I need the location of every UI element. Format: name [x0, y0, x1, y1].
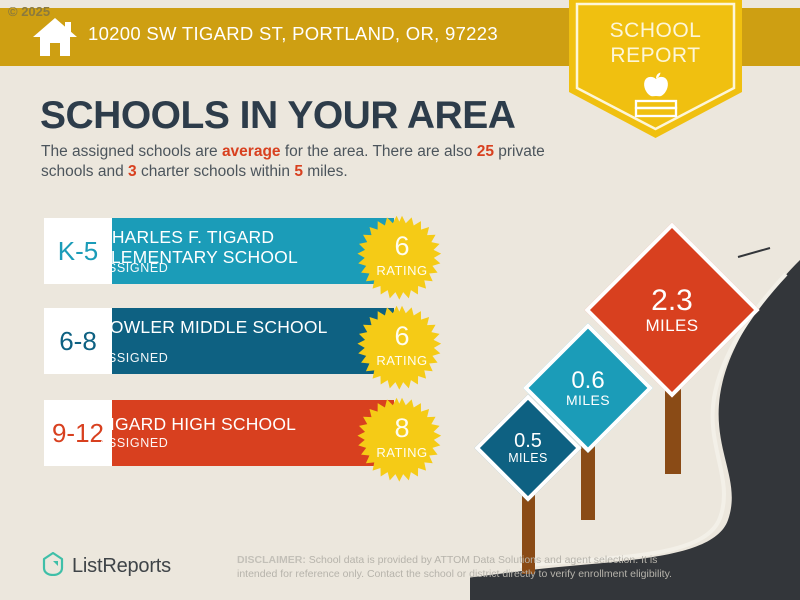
school-report-banner: SCHOOL REPORT	[569, 0, 742, 138]
listreports-logo-text: ListReports	[72, 555, 171, 578]
summary-part2: for the area. There are also	[281, 143, 477, 160]
school-status: ASSIGNED	[99, 436, 168, 450]
sign-unit: MILES	[566, 393, 610, 408]
summary-charter-count: 3	[128, 163, 137, 180]
school-status: ASSIGNED	[99, 351, 168, 365]
rating-badge: 8 RATING	[357, 396, 447, 486]
summary-private-count: 25	[477, 143, 494, 160]
rating-label: RATING	[357, 353, 447, 368]
grade-range: 6-8	[59, 326, 97, 357]
sign-distance: 0.6	[571, 368, 604, 393]
book-icon	[636, 101, 676, 116]
summary-part4: charter schools within	[137, 163, 295, 180]
apple-icon	[644, 73, 668, 97]
grade-range: K-5	[58, 236, 98, 267]
page-title: SCHOOLS IN YOUR AREA	[40, 94, 515, 138]
school-report-infographic: © 2025 10200 SW TIGARD ST, PORTLAND, OR,…	[0, 0, 800, 600]
disclaimer-label: DISCLAIMER:	[237, 554, 306, 566]
school-name: TIGARD HIGH SCHOOL	[99, 414, 329, 434]
copyright-watermark: © 2025	[8, 4, 50, 19]
sign-distance: 2.3	[651, 285, 693, 317]
summary-part5: miles.	[303, 163, 348, 180]
banner-title-line2: REPORT	[569, 43, 742, 68]
listreports-house-pin-icon	[42, 552, 64, 581]
banner-title-line1: SCHOOL	[569, 18, 742, 43]
summary-text: The assigned schools are average for the…	[41, 142, 571, 182]
rating-value: 8	[357, 413, 447, 444]
banner-title: SCHOOL REPORT	[569, 18, 742, 68]
school-row[interactable]: 6-8 FOWLER MIDDLE SCHOOL ASSIGNED 6 RATI…	[44, 308, 394, 374]
summary-radius: 5	[294, 163, 303, 180]
rating-value: 6	[357, 231, 447, 262]
sign-distance: 0.5	[514, 431, 542, 452]
school-row[interactable]: K-5 CHARLES F. TIGARD ELEMENTARY SCHOOL …	[44, 218, 394, 284]
rating-badge: 6 RATING	[357, 214, 447, 304]
rating-label: RATING	[357, 445, 447, 460]
school-row[interactable]: 9-12 TIGARD HIGH SCHOOL ASSIGNED 8 RATIN…	[44, 400, 394, 466]
summary-rating-word: average	[222, 143, 281, 160]
summary-part1: The assigned schools are	[41, 143, 222, 160]
banner-icons	[569, 72, 742, 125]
sign-unit: MILES	[508, 452, 548, 465]
grade-range: 9-12	[52, 418, 104, 449]
property-address: 10200 SW TIGARD ST, PORTLAND, OR, 97223	[88, 23, 498, 45]
road-scene: 2.3 MILES 0.6 MILES 0.5 MILES	[470, 230, 800, 600]
rating-value: 6	[357, 321, 447, 352]
sign-unit: MILES	[645, 317, 698, 335]
school-status: ASSIGNED	[99, 261, 168, 275]
home-icon	[32, 16, 78, 58]
school-name: FOWLER MIDDLE SCHOOL	[99, 317, 329, 337]
sign-text: 0.5 MILES	[490, 410, 566, 486]
disclaimer-text: DISCLAIMER: School data is provided by A…	[237, 553, 697, 581]
listreports-logo[interactable]: ListReports	[42, 552, 171, 581]
rating-label: RATING	[357, 263, 447, 278]
rating-badge: 6 RATING	[357, 304, 447, 394]
